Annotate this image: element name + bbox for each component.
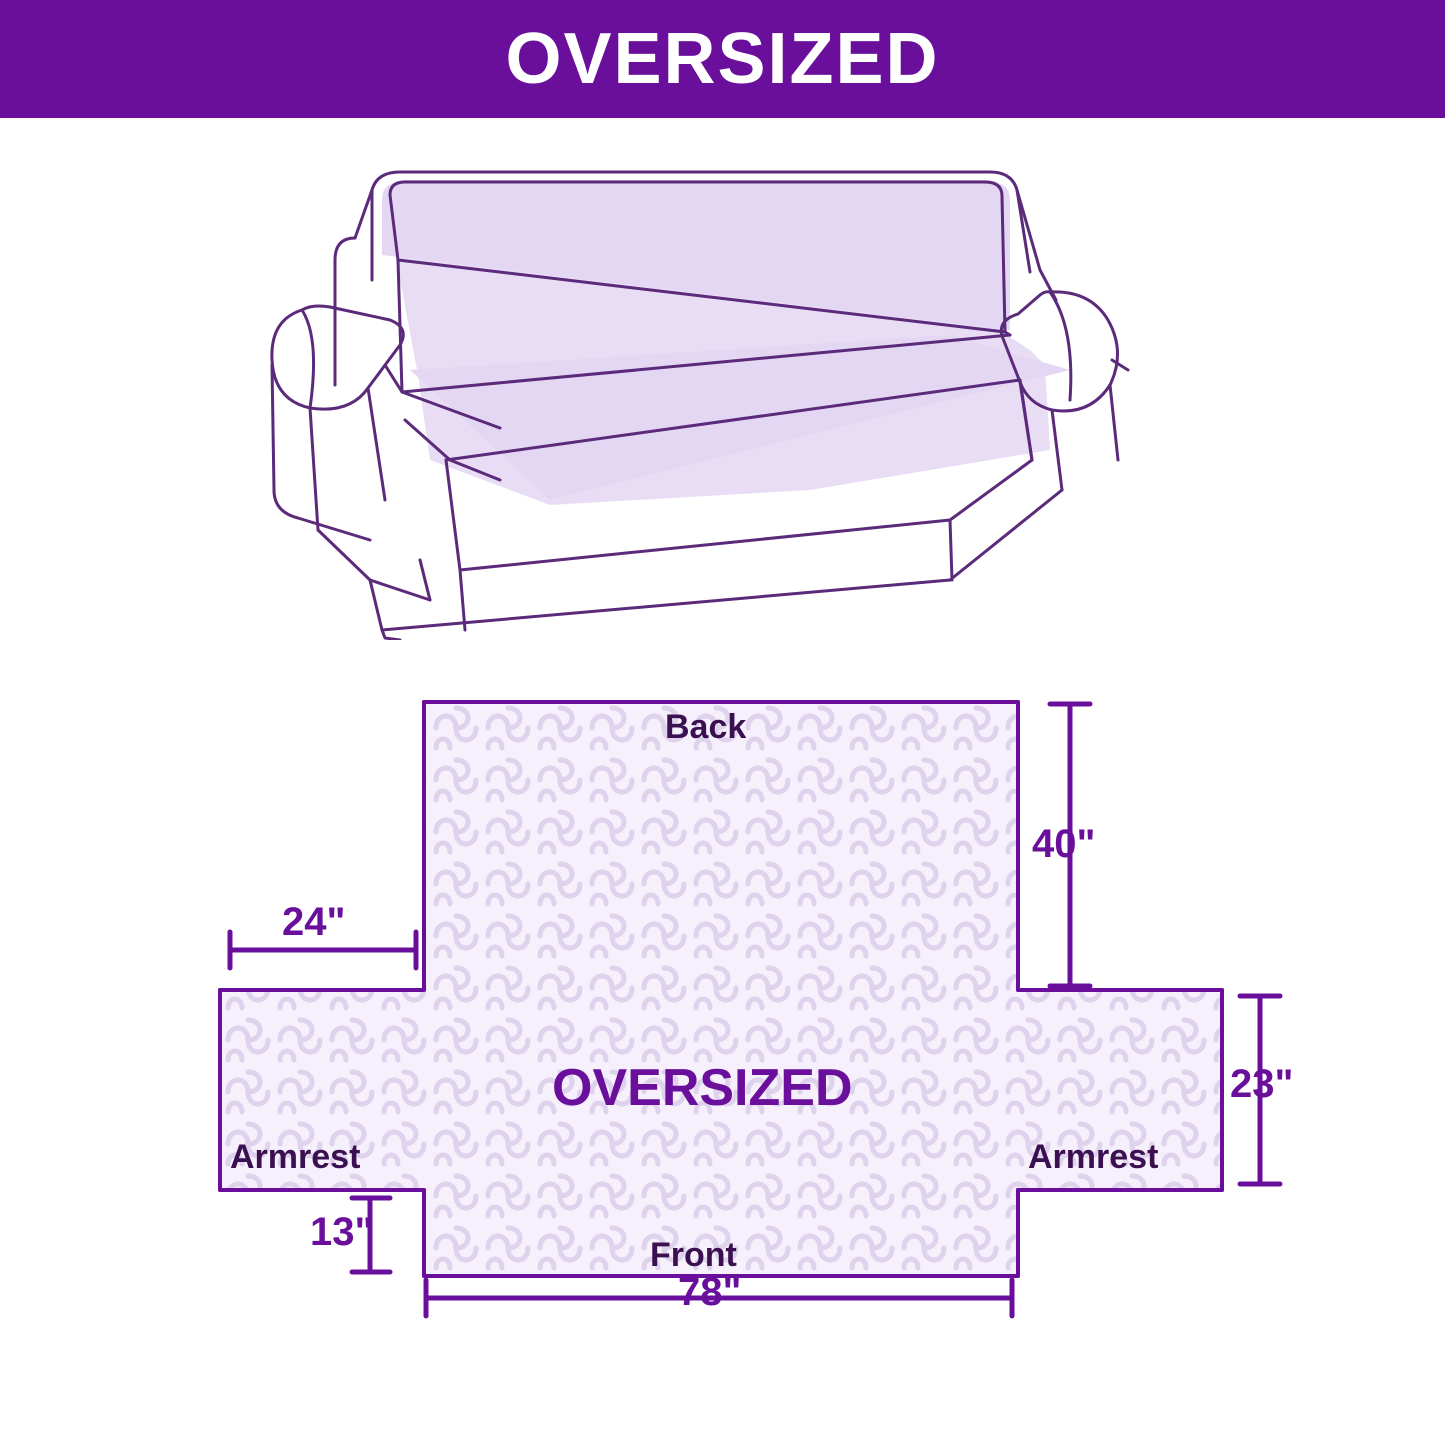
cover-flat-diagram: Back Front Armrest Armrest OVERSIZED 40"… — [170, 650, 1310, 1330]
dimension-armrest-height: 23" — [1230, 1062, 1293, 1107]
header-banner: OVERSIZED — [0, 0, 1445, 118]
label-back: Back — [665, 708, 746, 747]
page-root: OVERSIZED — [0, 0, 1445, 1445]
label-armrest-right: Armrest — [1028, 1138, 1158, 1177]
label-center-size: OVERSIZED — [552, 1058, 853, 1118]
dimension-back-width-left: 24" — [282, 900, 345, 945]
dimension-back-height: 40" — [1032, 822, 1095, 867]
dimension-front-width: 78" — [678, 1270, 741, 1315]
label-armrest-left: Armrest — [230, 1138, 360, 1177]
dimension-front-drop: 13" — [310, 1210, 373, 1255]
page-title: OVERSIZED — [505, 23, 939, 95]
sofa-illustration — [250, 160, 1210, 640]
